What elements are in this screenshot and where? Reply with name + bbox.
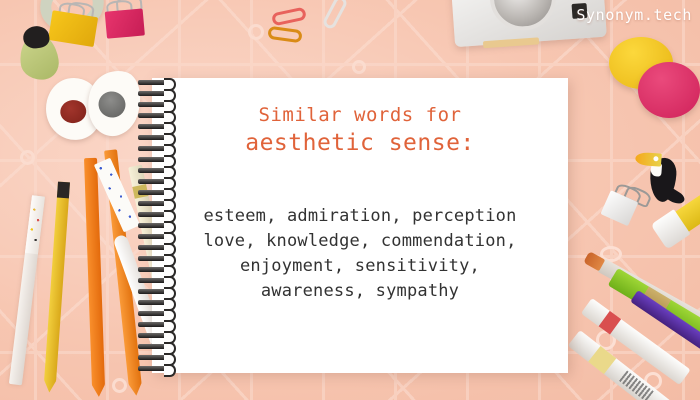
bird-eraser bbox=[17, 32, 61, 83]
spiral-ring bbox=[138, 322, 178, 328]
spiral-ring bbox=[138, 355, 178, 361]
spiral-ring bbox=[138, 80, 178, 86]
spiral-ring bbox=[138, 256, 178, 262]
synonym-line: love, knowledge, commendation, bbox=[203, 229, 516, 254]
spiral-ring bbox=[138, 300, 178, 306]
synonym-line: enjoyment, sensitivity, bbox=[203, 254, 516, 279]
note-title: Similar words for aesthetic sense: bbox=[245, 102, 475, 158]
pencil-ferrule bbox=[57, 182, 70, 199]
circuit-pad-icon bbox=[20, 150, 35, 165]
spiral-binding bbox=[138, 80, 178, 372]
circuit-pad-icon bbox=[352, 60, 366, 74]
spiral-ring bbox=[138, 278, 178, 284]
egg-yolk-red bbox=[59, 99, 87, 125]
egg-yolk-gray bbox=[95, 88, 128, 120]
clip-body bbox=[105, 8, 145, 38]
note-title-line-2: aesthetic sense: bbox=[245, 128, 475, 158]
macaron-pink bbox=[638, 62, 700, 118]
notepad-paper[interactable]: Similar words for aesthetic sense: estee… bbox=[152, 78, 568, 373]
spiral-ring bbox=[138, 212, 178, 218]
spiral-ring bbox=[138, 234, 178, 240]
spiral-ring bbox=[138, 245, 178, 251]
note-title-line-1: Similar words for bbox=[245, 102, 475, 128]
circuit-pad-icon bbox=[112, 378, 127, 393]
synonym-list: esteem, admiration, perception love, kno… bbox=[203, 204, 516, 304]
spiral-ring bbox=[138, 344, 178, 350]
spiral-ring bbox=[138, 267, 178, 273]
spiral-ring bbox=[138, 333, 178, 339]
spiral-ring bbox=[138, 190, 178, 196]
spiral-ring bbox=[138, 366, 178, 372]
spiral-ring bbox=[138, 91, 178, 97]
note-content: Similar words for aesthetic sense: estee… bbox=[152, 78, 568, 373]
spiral-ring bbox=[138, 168, 178, 174]
spiral-ring bbox=[138, 289, 178, 295]
spiral-ring bbox=[138, 113, 178, 119]
circuit-pad-icon bbox=[248, 24, 264, 40]
spiral-ring bbox=[138, 223, 178, 229]
spiral-ring bbox=[138, 311, 178, 317]
spiral-ring bbox=[138, 135, 178, 141]
spiral-ring bbox=[138, 102, 178, 108]
site-watermark: Synonym.tech bbox=[576, 6, 692, 24]
synonym-line: awareness, sympathy bbox=[203, 279, 516, 304]
spiral-ring bbox=[138, 124, 178, 130]
spiral-ring bbox=[138, 146, 178, 152]
camera-lens-icon bbox=[488, 0, 558, 33]
synonym-line: esteem, admiration, perception bbox=[203, 204, 516, 229]
spiral-ring bbox=[138, 179, 178, 185]
spiral-ring bbox=[138, 157, 178, 163]
spiral-ring bbox=[138, 201, 178, 207]
